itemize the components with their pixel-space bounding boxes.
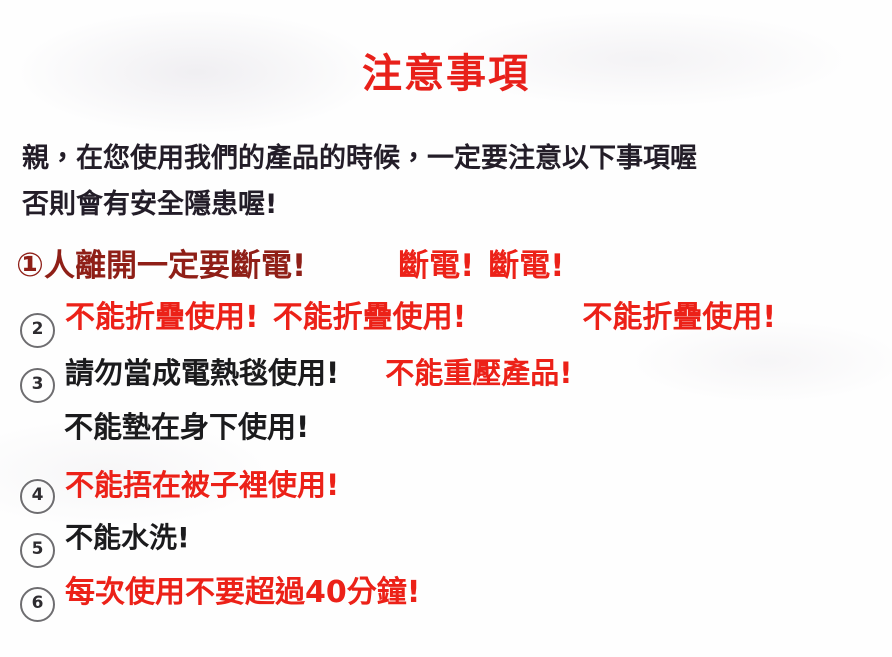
item-3-segment-1: 請勿當成電熱毯使用! (65, 358, 339, 388)
list-item-continuation: 不能墊在身下使用! (16, 412, 892, 470)
notice-item-list: ① 人離開一定要斷電! 斷電! 斷電! 2 不能折疊使用! 不能折疊使用! 不能… (16, 248, 892, 631)
item-marker-4-icon: 4 (20, 479, 55, 514)
intro-paragraph: 親，在您使用我們的產品的時候，一定要注意以下事項喔 否則會有安全隱患喔! (22, 136, 882, 228)
list-item: 4 不能捂在被子裡使用! (16, 470, 892, 523)
item-marker-6-icon: 6 (20, 587, 55, 622)
notice-page: 注意事項 親，在您使用我們的產品的時候，一定要注意以下事項喔 否則會有安全隱患喔… (0, 0, 892, 657)
list-item: 3 請勿當成電熱毯使用! 不能重壓產品! (16, 358, 892, 412)
intro-line-1: 親，在您使用我們的產品的時候，一定要注意以下事項喔 (22, 143, 697, 174)
list-item: 2 不能折疊使用! 不能折疊使用! 不能折疊使用! (16, 302, 892, 358)
item-marker-2-icon: 2 (20, 313, 55, 348)
item-1-segment-3: 斷電! (488, 250, 564, 283)
item-6-segment-1: 每次使用不要超過40分鐘! (65, 577, 420, 609)
item-2-segment-2: 不能折疊使用! (273, 302, 467, 334)
item-3-segment-2: 不能重壓產品! (385, 358, 572, 388)
item-1-segment-2: 斷電! (398, 250, 474, 283)
list-item: ① 人離開一定要斷電! 斷電! 斷電! (16, 248, 892, 302)
item-marker-3-icon: 3 (20, 368, 55, 403)
intro-line-2: 否則會有安全隱患喔! (22, 182, 882, 228)
item-5-segment-1: 不能水洗! (65, 523, 190, 552)
page-title: 注意事項 (0, 54, 892, 94)
item-2-segment-3: 不能折疊使用! (582, 302, 776, 334)
item-3-continuation-text: 不能墊在身下使用! (64, 412, 309, 442)
item-marker-5-icon: 5 (20, 533, 55, 568)
item-2-segment-1: 不能折疊使用! (65, 302, 259, 334)
item-marker-1-icon: ① (16, 248, 44, 281)
list-item: 5 不能水洗! (16, 523, 892, 577)
list-item: 6 每次使用不要超過40分鐘! (16, 577, 892, 631)
item-1-segment-1: 人離開一定要斷電! (44, 250, 306, 283)
item-4-segment-1: 不能捂在被子裡使用! (65, 470, 339, 500)
